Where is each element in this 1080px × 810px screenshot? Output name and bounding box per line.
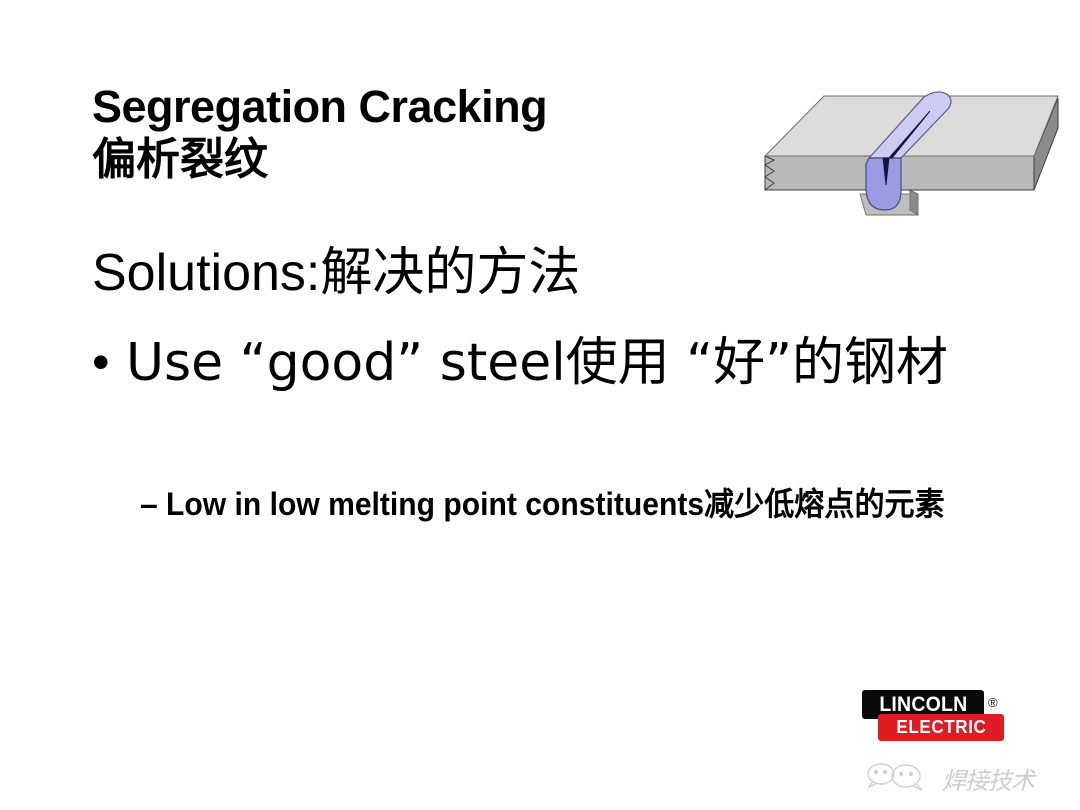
solutions-heading: Solutions:解决的方法: [92, 243, 580, 303]
wechat-watermark: 焊接技术: [866, 756, 1056, 800]
lincoln-wordmark-text: LINCOLN: [879, 693, 967, 717]
solutions-heading-chinese: 解决的方法: [320, 243, 580, 303]
bullet-item: • Use “good” steel使用 “好”的钢材: [92, 330, 1032, 396]
sub-bullet-text-wrap: Low in low melting point constituents减少低…: [166, 482, 988, 526]
slide-canvas: Segregation Cracking 偏析裂纹 Solutions:解决的方…: [0, 0, 1080, 810]
page-title-english: Segregation Cracking: [92, 80, 732, 134]
wechat-bubbles-icon: [866, 759, 940, 798]
sub-bullet-dash-icon: –: [140, 482, 166, 526]
electric-wordmark-bar: ELECTRIC: [878, 714, 1004, 741]
bullet-item-text: Use “good” steel使用 “好”的钢材: [126, 330, 1032, 396]
sub-bullet-text-english: Low in low melting point constituents: [166, 486, 704, 522]
solutions-heading-english: Solutions:: [92, 244, 320, 302]
page-title-chinese: 偏析裂纹: [92, 134, 732, 186]
sub-bullet-text-chinese: 减少低熔点的元素: [704, 485, 945, 523]
registered-trademark-icon: ®: [988, 696, 998, 709]
weld-cracking-diagram: [762, 72, 1062, 230]
electric-wordmark-text: ELECTRIC: [896, 717, 986, 738]
sub-bullet-item: – Low in low melting point constituents减…: [140, 482, 1040, 526]
bullet-dot-icon: •: [92, 330, 126, 394]
lincoln-electric-logo: LINCOLN ® ELECTRIC: [862, 690, 1010, 746]
slide-title-block: Segregation Cracking 偏析裂纹: [92, 80, 732, 186]
wechat-watermark-text: 焊接技术: [942, 761, 1034, 796]
